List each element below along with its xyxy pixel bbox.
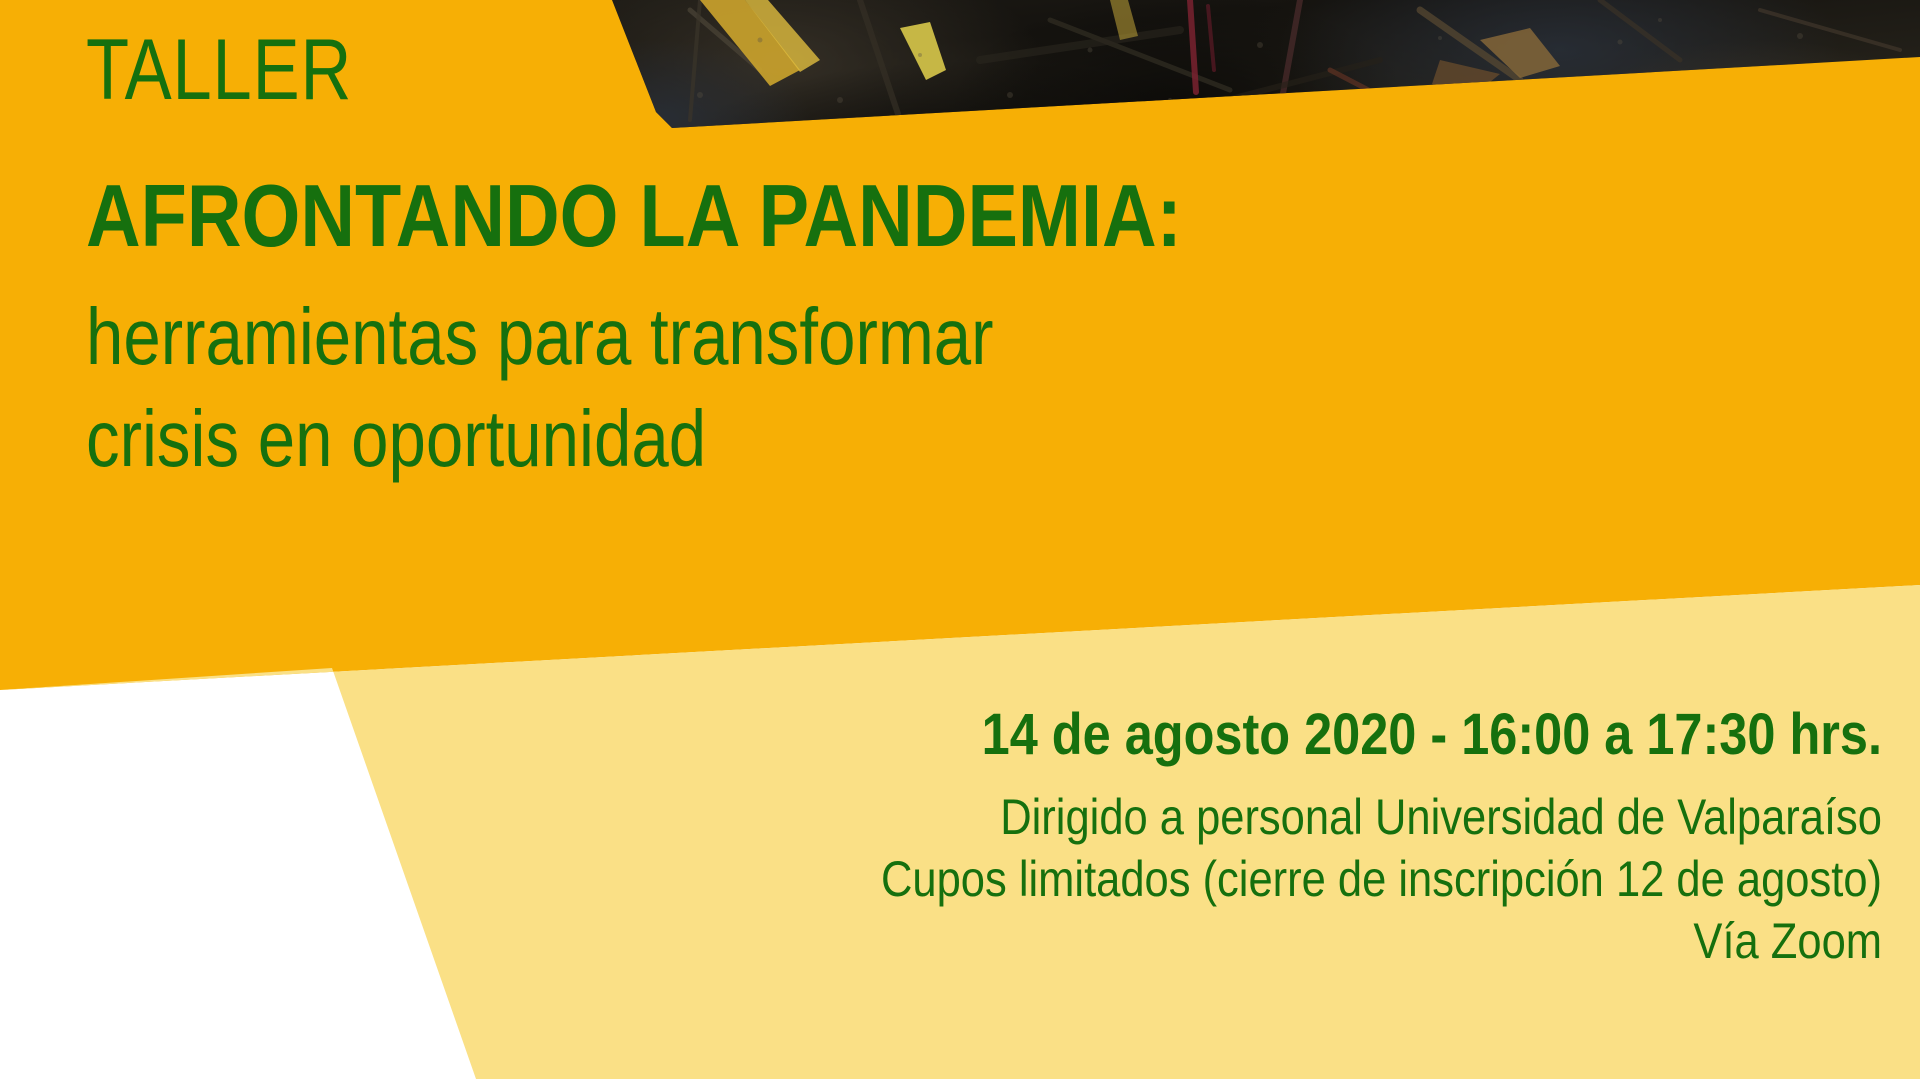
event-capacity: Cupos limitados (cierre de inscripción 1… xyxy=(751,848,1882,910)
event-date-time: 14 de agosto 2020 - 16:00 a 17:30 hrs. xyxy=(751,700,1882,770)
event-platform: Vía Zoom xyxy=(751,910,1882,972)
headline-subtitle-line-2: crisis en oportunidad xyxy=(86,388,1346,490)
page-title: AFRONTANDO LA PANDEMIA: xyxy=(86,164,1376,268)
details-block: 14 de agosto 2020 - 16:00 a 17:30 hrs. D… xyxy=(582,700,1882,972)
event-audience: Dirigido a personal Universidad de Valpa… xyxy=(751,786,1882,848)
headline-subtitle-line-1: herramientas para transformar xyxy=(86,286,1346,388)
headline-block: TALLER AFRONTANDO LA PANDEMIA: herramien… xyxy=(86,18,1586,490)
headline-kicker: TALLER xyxy=(86,18,1316,122)
workshop-poster: TALLER AFRONTANDO LA PANDEMIA: herramien… xyxy=(0,0,1920,1079)
